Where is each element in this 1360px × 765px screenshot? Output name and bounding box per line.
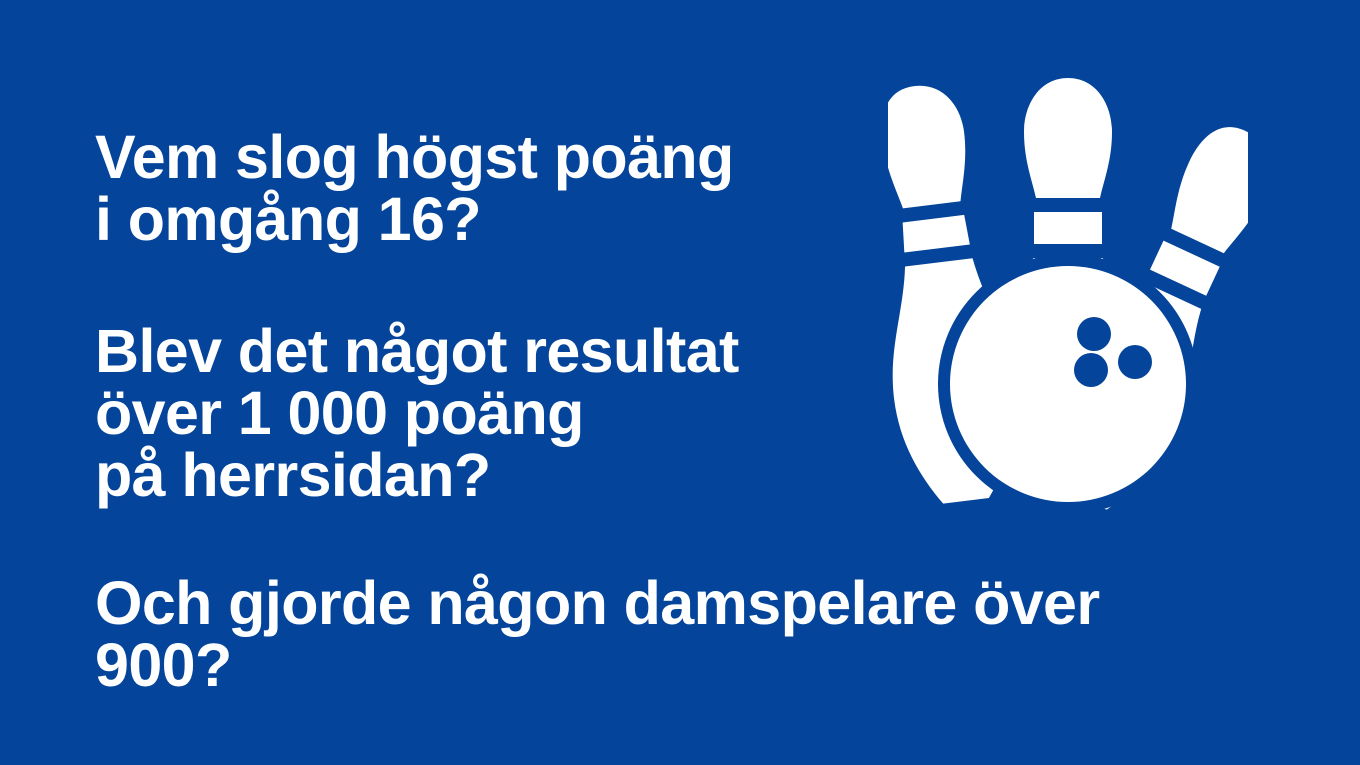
question-block-3: Och gjorde någon damspelare över 900? [95, 572, 1215, 696]
bowling-ball [938, 254, 1198, 514]
slide-canvas: Vem slog högst poäng i omgång 16? Blev d… [0, 0, 1360, 765]
ball-hole-bottom [1074, 353, 1108, 387]
ball-hole-right [1118, 345, 1152, 379]
ball-hole-top [1077, 317, 1111, 351]
bowling-icon [888, 62, 1248, 522]
